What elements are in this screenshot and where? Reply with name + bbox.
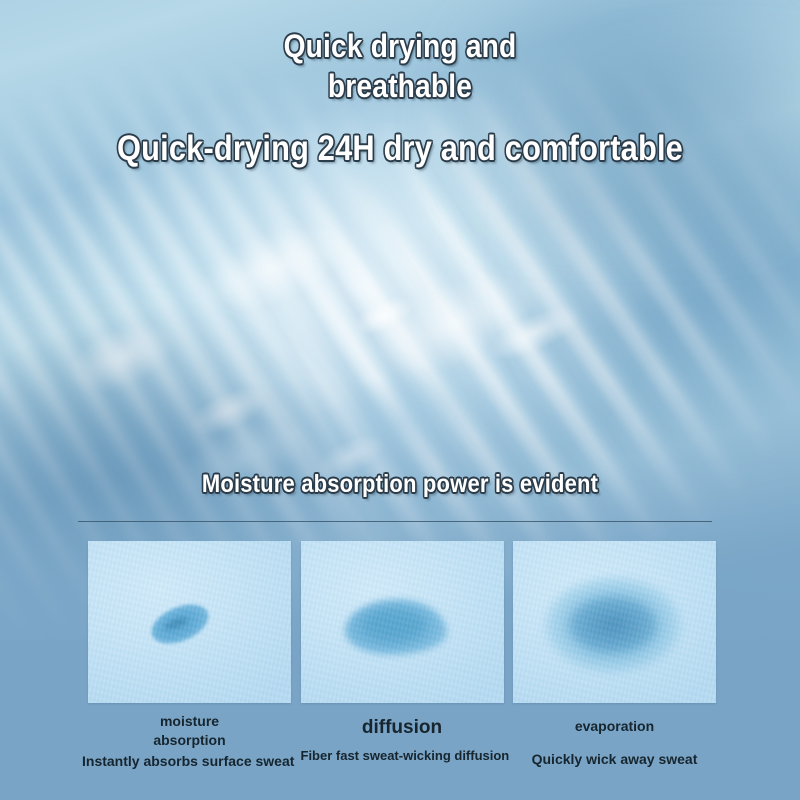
water-stain-core-icon — [569, 597, 657, 653]
water-stain-icon — [545, 577, 681, 673]
product-feature-poster: Quick drying and breathable Quick-drying… — [0, 0, 800, 800]
swatch-evaporation — [513, 541, 716, 703]
swatch-absorption — [88, 541, 291, 703]
stage-list: moisture absorption Instantly absorbs su… — [88, 541, 716, 771]
stage-subtitle: Fiber fast sweat-wicking diffusion — [301, 746, 504, 765]
stage-subtitle: Quickly wick away sweat — [513, 749, 716, 769]
water-stain-core-icon — [163, 615, 189, 632]
headline-secondary: Quick-drying 24H dry and comfortable — [48, 127, 752, 171]
caption-diffusion: diffusion Fiber fast sweat-wicking diffu… — [301, 716, 504, 765]
water-stain-icon — [146, 597, 215, 652]
stage-title: diffusion — [301, 716, 504, 740]
water-stain-icon — [345, 599, 447, 655]
caption-evaporation: evaporation Quickly wick away sweat — [513, 717, 716, 769]
stage-subtitle: Instantly absorbs surface sweat — [82, 751, 291, 771]
section-heading: Moisture absorption power is evident — [48, 468, 752, 500]
stage-item-absorption: moisture absorption Instantly absorbs su… — [88, 541, 291, 771]
headline-primary: Quick drying and breathable — [48, 26, 752, 106]
section-divider — [78, 521, 712, 522]
stage-item-diffusion: diffusion Fiber fast sweat-wicking diffu… — [301, 541, 504, 771]
water-stain-core-icon — [363, 609, 425, 641]
stage-item-evaporation: evaporation Quickly wick away sweat — [513, 541, 716, 771]
caption-absorption: moisture absorption Instantly absorbs su… — [88, 712, 291, 771]
swatch-diffusion — [301, 541, 504, 703]
stage-title: moisture absorption — [88, 712, 291, 750]
stage-title: evaporation — [513, 717, 716, 736]
